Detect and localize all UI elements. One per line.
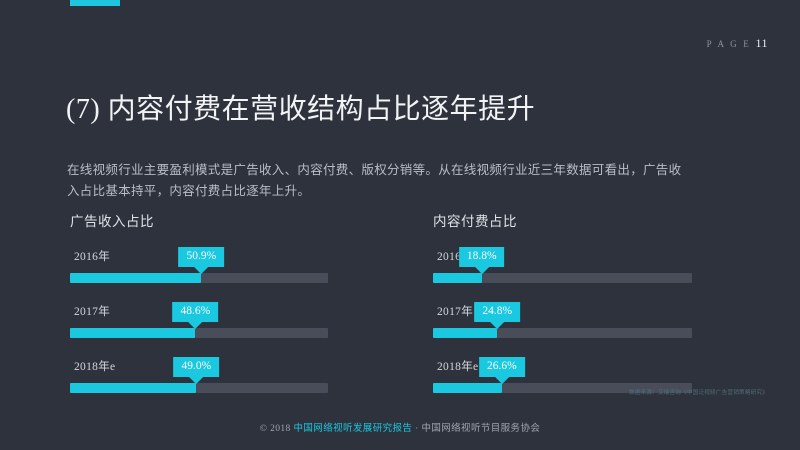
page-label: P A G E xyxy=(707,39,751,49)
bar-value-badge: 48.6% xyxy=(173,302,219,322)
bar-value-badge: 26.6% xyxy=(479,357,525,377)
bar-fill xyxy=(70,328,195,338)
bar-fill xyxy=(70,383,196,393)
footer-copyright: © 2018 xyxy=(260,424,291,434)
bar-track xyxy=(70,273,328,283)
bar-year-label: 2016年 xyxy=(74,248,110,264)
accent-bar xyxy=(70,0,120,6)
bar-value-badge: 24.8% xyxy=(474,302,520,322)
body-paragraph: 在线视频行业主要盈利模式是广告收入、内容付费、版权分销等。从在线视频行业近三年数… xyxy=(67,160,692,202)
footer-organization: 中国网络视听节目服务协会 xyxy=(421,424,540,434)
bar-fill xyxy=(433,383,502,393)
footer-separator: · xyxy=(415,424,419,434)
slide-canvas: P A G E 11 (7) 内容付费在营收结构占比逐年提升 在线视频行业主要盈… xyxy=(0,0,800,450)
page-indicator: P A G E 11 xyxy=(707,36,768,51)
page-title: (7) 内容付费在营收结构占比逐年提升 xyxy=(66,87,535,127)
bar-fill xyxy=(433,273,482,283)
bar-row: 2017年 48.6% xyxy=(70,303,328,358)
bar-year-label: 2018年e xyxy=(437,358,478,374)
page-number: 11 xyxy=(755,36,768,50)
bar-track xyxy=(433,273,692,283)
bar-fill xyxy=(433,328,497,338)
bar-value-badge: 18.8% xyxy=(459,247,505,267)
chart-ad-revenue-share: 广告收入占比 2016年 50.9% 2017年 48.6% 2018年e 49… xyxy=(70,210,328,413)
bar-row: 2016年 50.9% xyxy=(70,248,328,303)
bar-row: 2016年 18.8% xyxy=(433,248,692,303)
bar-value-badge: 49.0% xyxy=(174,357,220,377)
bar-value-badge: 50.9% xyxy=(178,247,224,267)
bar-row: 2018年e 49.0% xyxy=(70,358,328,413)
bar-year-label: 2017年 xyxy=(437,303,473,319)
bar-row: 2017年 24.8% xyxy=(433,303,692,358)
footer-report-name: 中国网络视听发展研究报告 xyxy=(294,424,413,434)
bar-fill xyxy=(70,273,201,283)
chart-right-heading: 内容付费占比 xyxy=(433,210,692,230)
bar-year-label: 2018年e xyxy=(74,358,115,374)
bar-track xyxy=(70,383,328,393)
bar-year-label: 2017年 xyxy=(74,303,110,319)
bar-track xyxy=(433,328,692,338)
bar-track xyxy=(70,328,328,338)
bar-row: 2018年e 26.6% xyxy=(433,358,692,413)
source-note: 数据来源：艾瑞咨询《中国泛视频广告营销策略研究》 xyxy=(629,388,768,396)
chart-left-heading: 广告收入占比 xyxy=(70,210,328,230)
footer: © 2018 中国网络视听发展研究报告 · 中国网络视听节目服务协会 xyxy=(0,420,800,434)
chart-paid-content-share: 内容付费占比 2016年 18.8% 2017年 24.8% 2018年e 26… xyxy=(433,210,692,413)
